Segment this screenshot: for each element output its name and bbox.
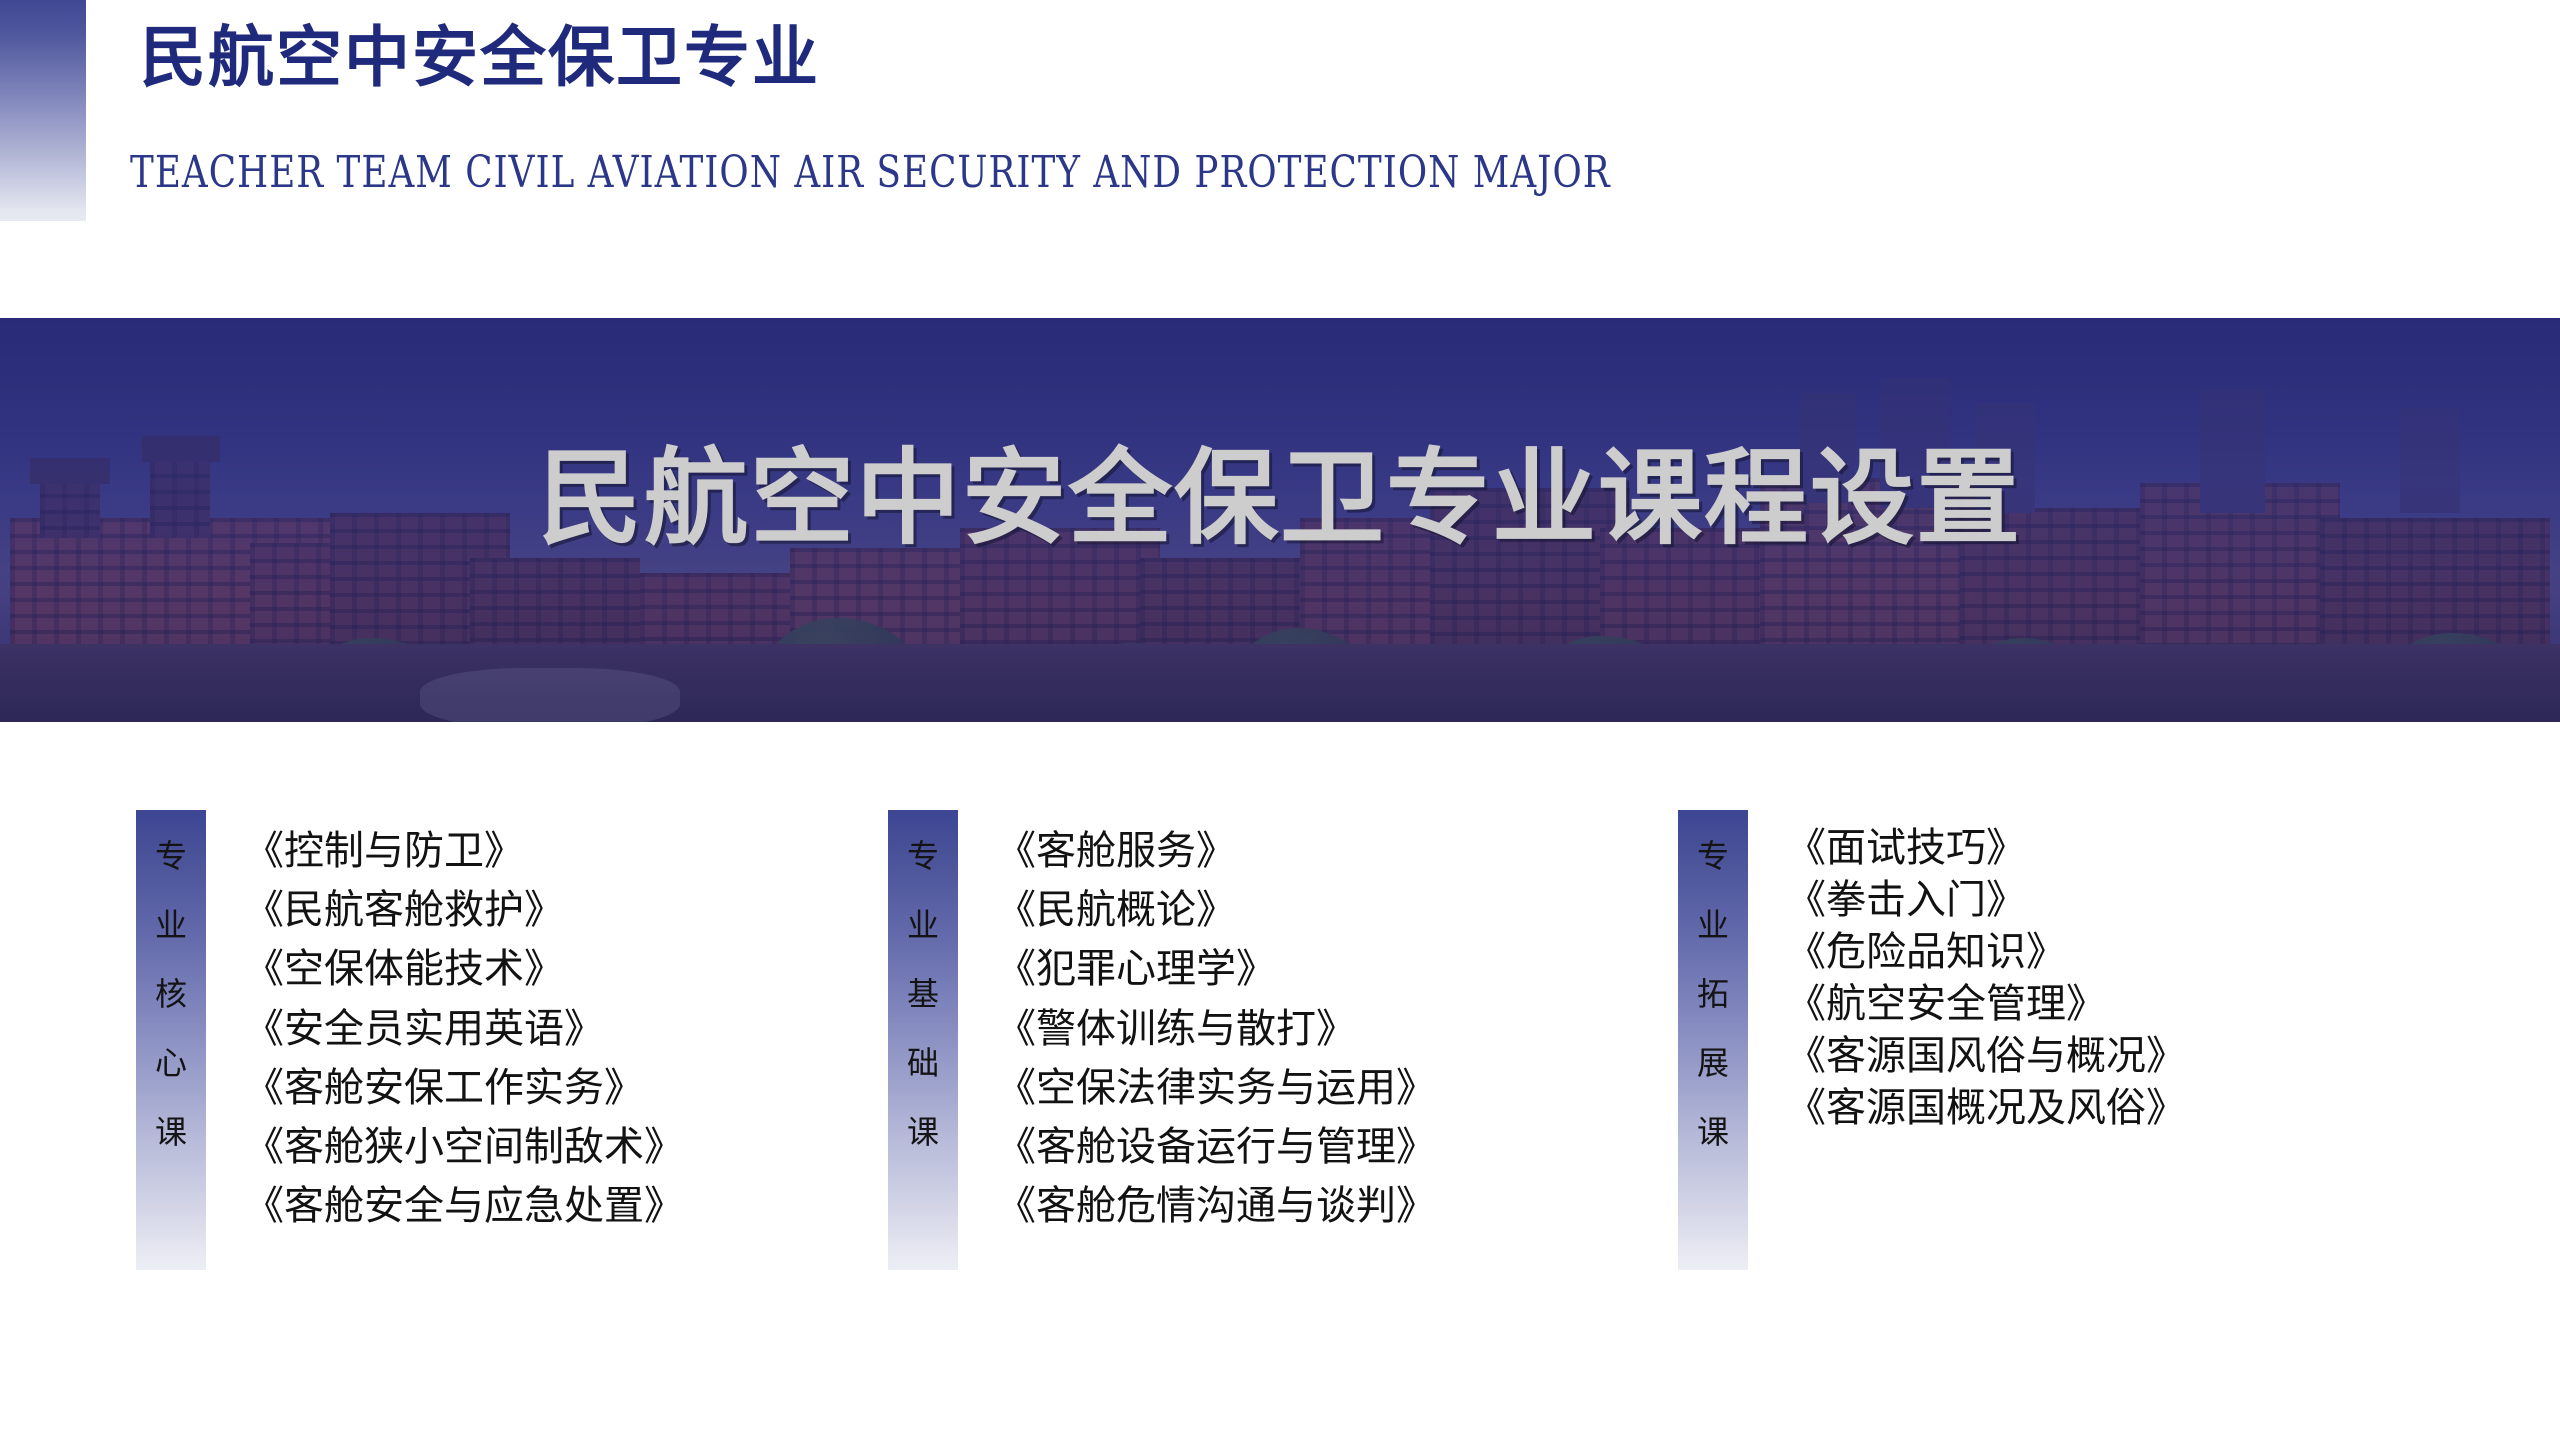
category-label-core: 专 业 核 心 课 [136, 840, 206, 1185]
campus-banner: 民航空中安全保卫专业课程设置 [0, 318, 2560, 722]
course-item: 《客源国概况及风俗》 [1786, 1082, 2186, 1134]
category-char: 业 [888, 909, 958, 941]
course-item: 《客舱服务》 [996, 822, 1436, 881]
course-item: 《控制与防卫》 [244, 822, 684, 881]
course-item: 《客舱危情沟通与谈判》 [996, 1177, 1436, 1236]
course-item: 《拳击入门》 [1786, 874, 2186, 926]
category-char: 专 [1678, 840, 1748, 872]
category-bar-foundation: 专 业 基 础 课 [888, 810, 958, 1270]
course-list-foundation: 《客舱服务》 《民航概论》 《犯罪心理学》 《警体训练与散打》 《空保法律实务与… [996, 810, 1436, 1236]
course-item: 《航空安全管理》 [1786, 978, 2186, 1030]
course-columns: 专 业 核 心 课 《控制与防卫》 《民航客舱救护》 《空保体能技术》 《安全员… [0, 810, 2560, 1310]
category-char: 业 [136, 909, 206, 941]
category-label-extension: 专 业 拓 展 课 [1678, 840, 1748, 1185]
course-group-core: 专 业 核 心 课 《控制与防卫》 《民航客舱救护》 《空保体能技术》 《安全员… [136, 810, 684, 1270]
course-item: 《空保法律实务与运用》 [996, 1059, 1436, 1118]
category-char: 业 [1678, 909, 1748, 941]
course-item: 《民航概论》 [996, 881, 1436, 940]
course-item: 《客舱设备运行与管理》 [996, 1118, 1436, 1177]
category-label-foundation: 专 业 基 础 课 [888, 840, 958, 1185]
page-header: 民航空中安全保卫专业 TEACHER TEAM CIVIL AVIATION A… [0, 0, 2560, 300]
category-char: 展 [1678, 1047, 1748, 1079]
category-char: 拓 [1678, 978, 1748, 1010]
course-item: 《客舱狭小空间制敌术》 [244, 1118, 684, 1177]
course-list-core: 《控制与防卫》 《民航客舱救护》 《空保体能技术》 《安全员实用英语》 《客舱安… [244, 810, 684, 1236]
page-subtitle: TEACHER TEAM CIVIL AVIATION AIR SECURITY… [130, 148, 1611, 198]
category-char: 课 [888, 1116, 958, 1148]
category-char: 础 [888, 1047, 958, 1079]
category-char: 专 [888, 840, 958, 872]
course-group-foundation: 专 业 基 础 课 《客舱服务》 《民航概论》 《犯罪心理学》 《警体训练与散打… [888, 810, 1436, 1270]
category-char: 课 [1678, 1116, 1748, 1148]
course-list-extension: 《面试技巧》 《拳击入门》 《危险品知识》 《航空安全管理》 《客源国风俗与概况… [1786, 810, 2186, 1134]
course-item: 《空保体能技术》 [244, 940, 684, 999]
course-group-extension: 专 业 拓 展 课 《面试技巧》 《拳击入门》 《危险品知识》 《航空安全管理》… [1678, 810, 2186, 1270]
category-char: 核 [136, 978, 206, 1010]
course-item: 《警体训练与散打》 [996, 1000, 1436, 1059]
course-item: 《客源国风俗与概况》 [1786, 1030, 2186, 1082]
course-item: 《面试技巧》 [1786, 822, 2186, 874]
category-char: 心 [136, 1047, 206, 1079]
category-char: 课 [136, 1116, 206, 1148]
page-title: 民航空中安全保卫专业 [140, 22, 820, 93]
banner-title: 民航空中安全保卫专业课程设置 [0, 446, 2560, 550]
category-char: 专 [136, 840, 206, 872]
course-item: 《危险品知识》 [1786, 926, 2186, 978]
category-bar-extension: 专 业 拓 展 课 [1678, 810, 1748, 1270]
course-item: 《客舱安保工作实务》 [244, 1059, 684, 1118]
course-item: 《民航客舱救护》 [244, 881, 684, 940]
header-accent-bar [0, 0, 86, 221]
course-item: 《客舱安全与应急处置》 [244, 1177, 684, 1236]
category-bar-core: 专 业 核 心 课 [136, 810, 206, 1270]
course-item: 《犯罪心理学》 [996, 940, 1436, 999]
category-char: 基 [888, 978, 958, 1010]
course-item: 《安全员实用英语》 [244, 1000, 684, 1059]
